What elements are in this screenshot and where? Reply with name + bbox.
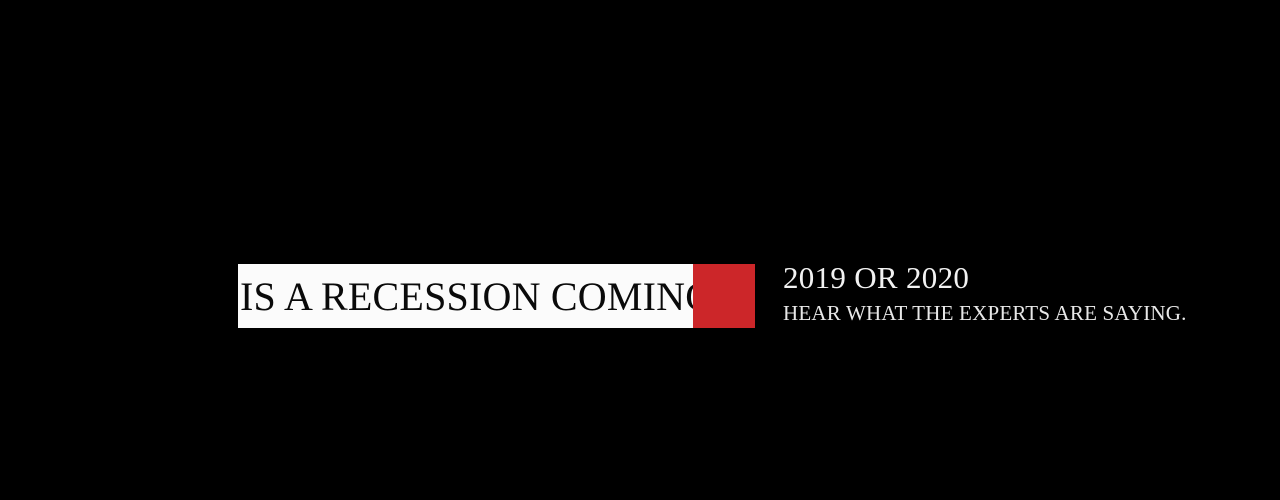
headline-banner: IS A RECESSION COMING? [238,264,755,328]
title-card-canvas: IS A RECESSION COMING? 2019 OR 2020 HEAR… [0,0,1280,500]
headline-plate: IS A RECESSION COMING? [238,264,693,328]
red-accent-block [693,264,755,328]
side-text-group: 2019 OR 2020 HEAR WHAT THE EXPERTS ARE S… [783,261,1253,325]
side-title-years: 2019 OR 2020 [783,261,1253,294]
side-subtitle-tagline: HEAR WHAT THE EXPERTS ARE SAYING. [783,302,1253,324]
headline-title: IS A RECESSION COMING? [238,277,693,317]
